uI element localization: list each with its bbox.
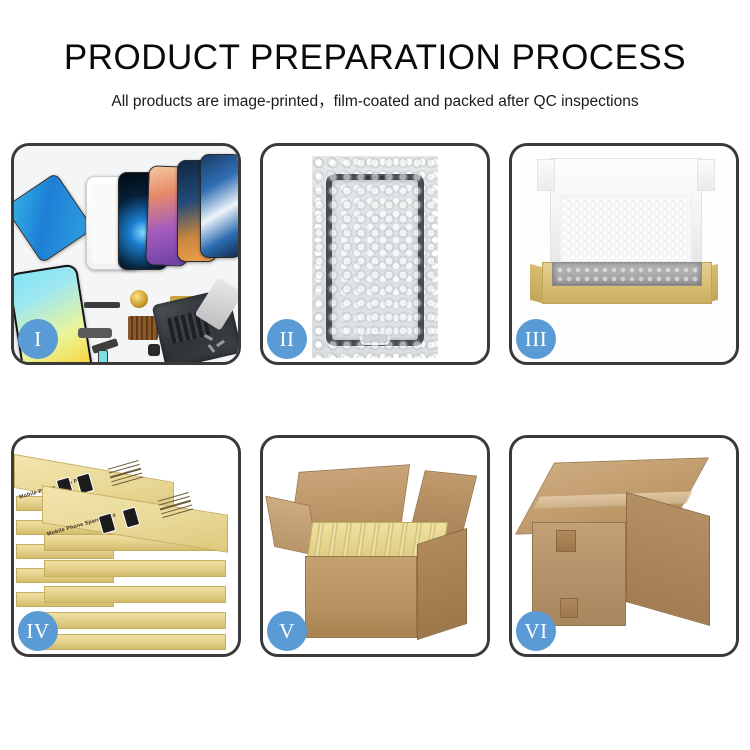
screws-icon (204, 336, 230, 354)
carton-front-face-icon (532, 522, 626, 626)
carton-side-face-icon (417, 528, 467, 640)
carton-seam-tab-icon (556, 530, 576, 552)
step-panel-6: VI (509, 435, 739, 657)
flex-cable-icon (84, 302, 120, 308)
camera-module-icon (148, 344, 160, 356)
wave-phone-screen-icon (200, 154, 238, 258)
step-panel-3: III (509, 143, 739, 365)
carton-front-face-icon (305, 556, 417, 638)
product-preparation-infographic: PRODUCT PREPARATION PROCESS All products… (0, 0, 750, 750)
phone-glass-panel-icon (326, 174, 424, 346)
header: PRODUCT PREPARATION PROCESS All products… (0, 0, 750, 111)
step-badge-5: V (267, 611, 307, 651)
battery-icon (98, 350, 108, 362)
page-subtitle: All products are image-printed，film-coat… (0, 89, 750, 111)
carton-side-face-icon (626, 492, 710, 626)
step-badge-3: III (516, 319, 556, 359)
stacked-box (44, 612, 226, 629)
blue-back-film-icon (14, 172, 94, 263)
wrapped-screen-in-box-icon (552, 262, 702, 286)
stacked-box (44, 634, 226, 650)
stacked-box (44, 586, 226, 603)
step-badge-2: II (267, 319, 307, 359)
speaker-coil-icon (130, 290, 148, 308)
stacked-box (44, 560, 226, 577)
step-badge-4: IV (18, 611, 58, 651)
step-panel-2: II (260, 143, 490, 365)
flex-cable-icon (78, 328, 112, 338)
step-panel-4: Mobile Phone Spare Parts Mobile Phone Sp… (11, 435, 241, 657)
step-panel-1: I (11, 143, 241, 365)
step-badge-1: I (18, 319, 58, 359)
process-step-grid: I II III (11, 143, 739, 688)
foam-insert-icon (560, 196, 692, 262)
page-title: PRODUCT PREPARATION PROCESS (0, 38, 750, 78)
step-panel-5: V (260, 435, 490, 657)
carton-seam-tab-icon (560, 598, 578, 618)
bubble-wrap-sheet (312, 156, 438, 358)
step-badge-6: VI (516, 611, 556, 651)
ic-chip-icon (128, 316, 158, 340)
